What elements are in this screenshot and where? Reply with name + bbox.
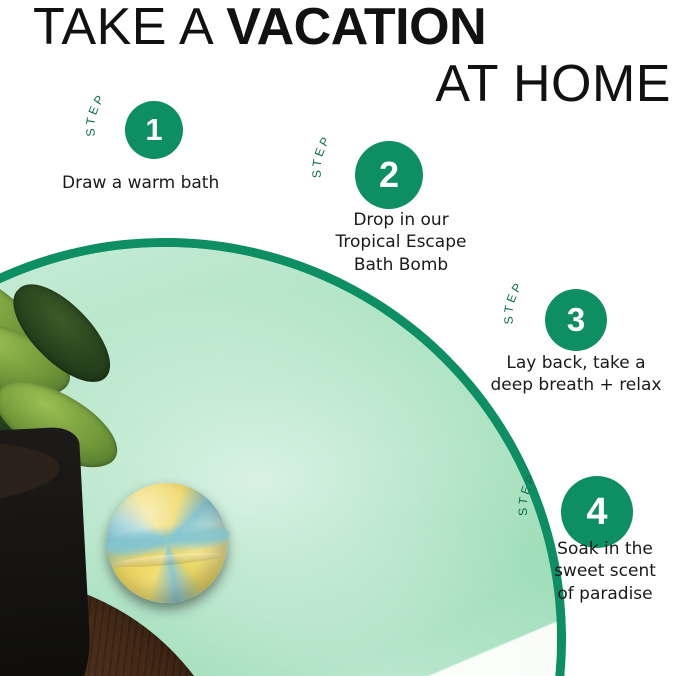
pot-soil <box>0 434 61 519</box>
infographic-canvas: TAKE A VACATION AT HOME STEP 1 Draw a wa… <box>0 0 679 676</box>
step-4-caption-line-1: Soak in the <box>531 538 679 560</box>
svg-text:STEP: STEP <box>309 132 333 178</box>
step-4-caption: Soak in the sweet scent of paradise <box>531 538 679 605</box>
step-4-caption-line-3: of paradise <box>531 583 679 605</box>
photo-content <box>0 247 557 676</box>
headline-take-a: TAKE A <box>33 0 226 56</box>
step-3-caption-line-1: Lay back, take a <box>473 352 679 374</box>
bath-bomb <box>107 483 227 603</box>
step-2-caption-line-3: Bath Bomb <box>306 254 496 276</box>
step-2-caption-line-2: Tropical Escape <box>306 231 496 253</box>
headline-line-1: TAKE A VACATION <box>33 1 486 53</box>
step-1-badge: 1 <box>125 101 183 159</box>
step-2-label: STEP <box>309 132 333 178</box>
svg-text:STEP: STEP <box>83 91 108 137</box>
headline-vacation: VACATION <box>226 0 486 56</box>
step-1-caption-line-1: Draw a warm bath <box>62 172 219 194</box>
step-2-caption-line-1: Drop in our <box>306 209 496 231</box>
step-3-badge: 3 <box>545 289 607 351</box>
step-2-caption: Drop in our Tropical Escape Bath Bomb <box>306 209 496 276</box>
step-4-caption-line-2: sweet scent <box>531 560 679 582</box>
circular-photo <box>0 238 566 676</box>
step-1-caption: Draw a warm bath <box>62 172 219 194</box>
headline-line-2: AT HOME <box>435 58 671 110</box>
step-3-caption-line-2: deep breath + relax <box>473 374 679 396</box>
step-3-caption: Lay back, take a deep breath + relax <box>473 352 679 397</box>
plant-pot <box>0 426 95 676</box>
step-1-label: STEP <box>83 91 108 137</box>
step-2-badge: 2 <box>355 141 423 209</box>
